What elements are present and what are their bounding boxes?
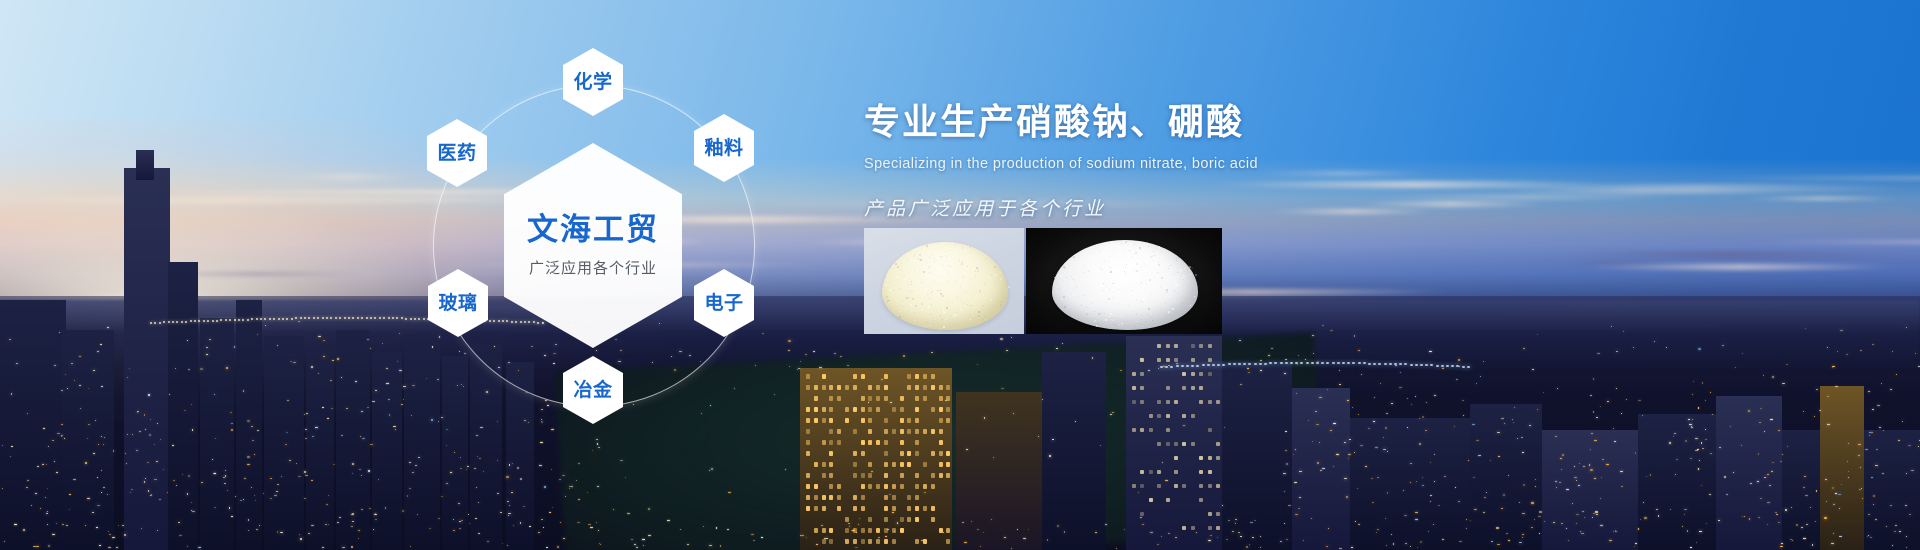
subheadline-text: Specializing in the production of sodium… xyxy=(864,156,1564,172)
marketing-copy-block: 专业生产硝酸钠、硼酸 Specializing in the productio… xyxy=(864,100,1564,221)
hex-label-metallurgy: 冶金 xyxy=(573,381,612,400)
hex-label-glass: 玻璃 xyxy=(438,294,477,313)
company-name: 文海工贸 xyxy=(527,213,659,247)
hex-label-glaze: 釉料 xyxy=(704,139,743,158)
product-photo-row xyxy=(864,228,1222,334)
company-tagline: 广泛应用各个行业 xyxy=(529,257,657,278)
hex-label-pharmaceutical: 医药 xyxy=(437,144,476,163)
product-photo-boric-acid[interactable] xyxy=(1026,228,1222,334)
powder-pile-white xyxy=(1052,240,1198,330)
hex-label-chemical: 化学 xyxy=(573,73,612,92)
headline-text: 专业生产硝酸钠、硼酸 xyxy=(864,100,1564,145)
powder-pile-cream xyxy=(882,242,1008,330)
tagline-text: 产品广泛应用于各个行业 xyxy=(864,194,1564,221)
industry-hexagon-diagram: 文海工贸 广泛应用各个行业 化学 釉料 电子 冶金 玻璃 医药 xyxy=(378,30,808,460)
promo-banner: 文海工贸 广泛应用各个行业 化学 釉料 电子 冶金 玻璃 医药 专业生产硝酸钠、… xyxy=(0,0,1920,550)
hex-label-electronics: 电子 xyxy=(704,294,743,313)
product-photo-sodium-nitrate[interactable] xyxy=(864,228,1024,334)
